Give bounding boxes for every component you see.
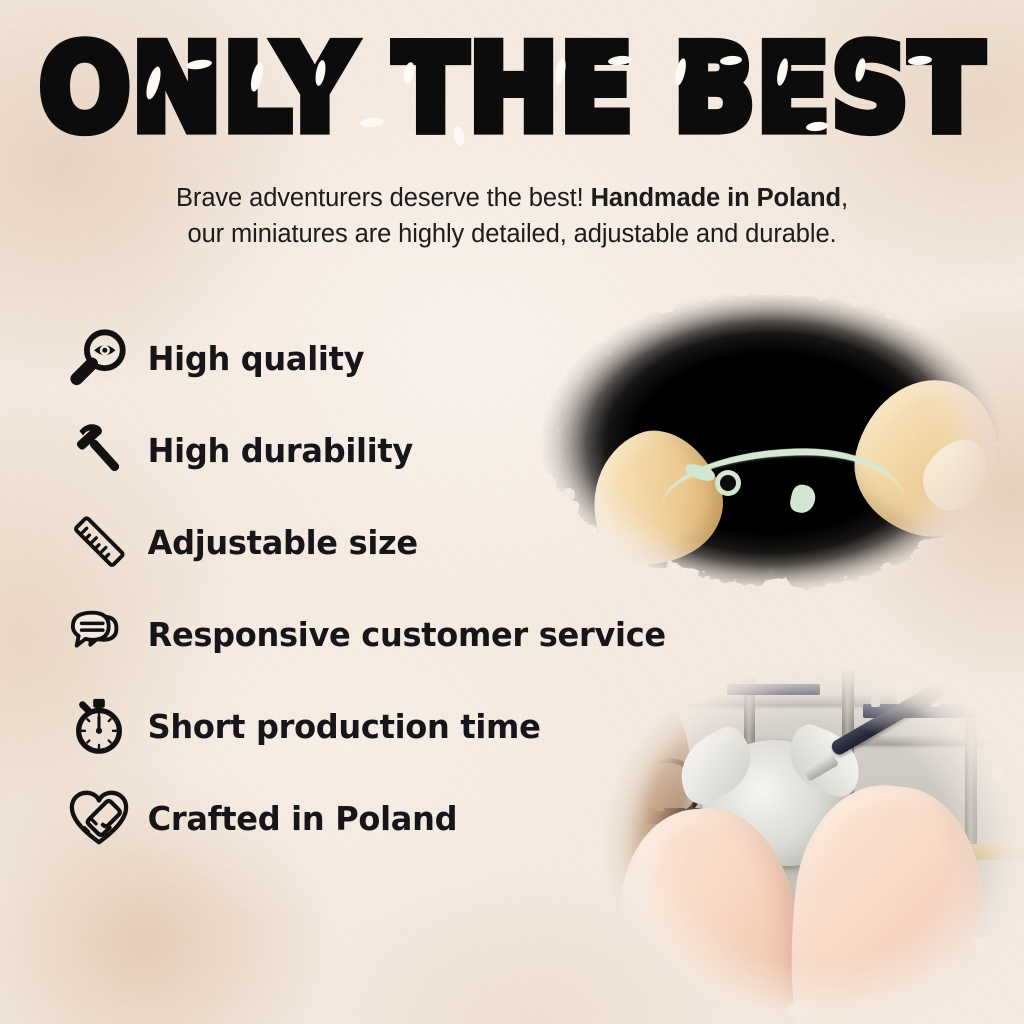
feature-label: Crafted in Poland bbox=[136, 799, 457, 838]
shelf-miniature-a bbox=[871, 695, 880, 707]
magnifier-eye-icon bbox=[62, 321, 136, 395]
stopwatch-icon bbox=[62, 689, 136, 763]
feature-item-high-quality: High quality bbox=[62, 312, 782, 404]
feature-item-high-durability: High durability bbox=[62, 404, 782, 496]
subtitle-line-2: our miniatures are highly detailed, adju… bbox=[0, 216, 1024, 252]
subtitle-bold: Handmade in Poland bbox=[591, 184, 841, 212]
feature-item-adjustable-size: Adjustable size bbox=[62, 496, 782, 588]
feature-item-responsive-customer-service: Responsive customer service bbox=[62, 588, 782, 680]
subtitle-tail: , bbox=[841, 184, 848, 212]
speech-bubbles-icon bbox=[62, 597, 136, 671]
feature-label: High quality bbox=[136, 339, 364, 378]
subtitle-lead: Brave adventurers deserve the best! bbox=[176, 184, 591, 212]
feature-label: Short production time bbox=[136, 707, 541, 746]
subtitle: Brave adventurers deserve the best! Hand… bbox=[0, 180, 1024, 252]
shelf-middle-right bbox=[854, 736, 998, 744]
headline: ONLY THE BEST bbox=[0, 34, 1024, 140]
feature-label: Responsive customer service bbox=[136, 615, 666, 654]
feature-item-crafted-in-poland: Crafted in Poland bbox=[62, 772, 782, 864]
hammer-icon bbox=[62, 413, 136, 487]
feature-label: High durability bbox=[136, 431, 413, 470]
headline-text: ONLY THE BEST bbox=[39, 28, 984, 149]
poster-canvas: ONLY THE BEST Brave adventurers deserve … bbox=[0, 0, 1024, 1024]
feature-label: Adjustable size bbox=[136, 523, 418, 562]
ruler-icon bbox=[62, 505, 136, 579]
subtitle-line-1: Brave adventurers deserve the best! Hand… bbox=[0, 180, 1024, 216]
feature-item-short-production-time: Short production time bbox=[62, 680, 782, 772]
feature-list: High quality High durability bbox=[62, 312, 782, 864]
handshake-heart-icon bbox=[62, 781, 136, 855]
